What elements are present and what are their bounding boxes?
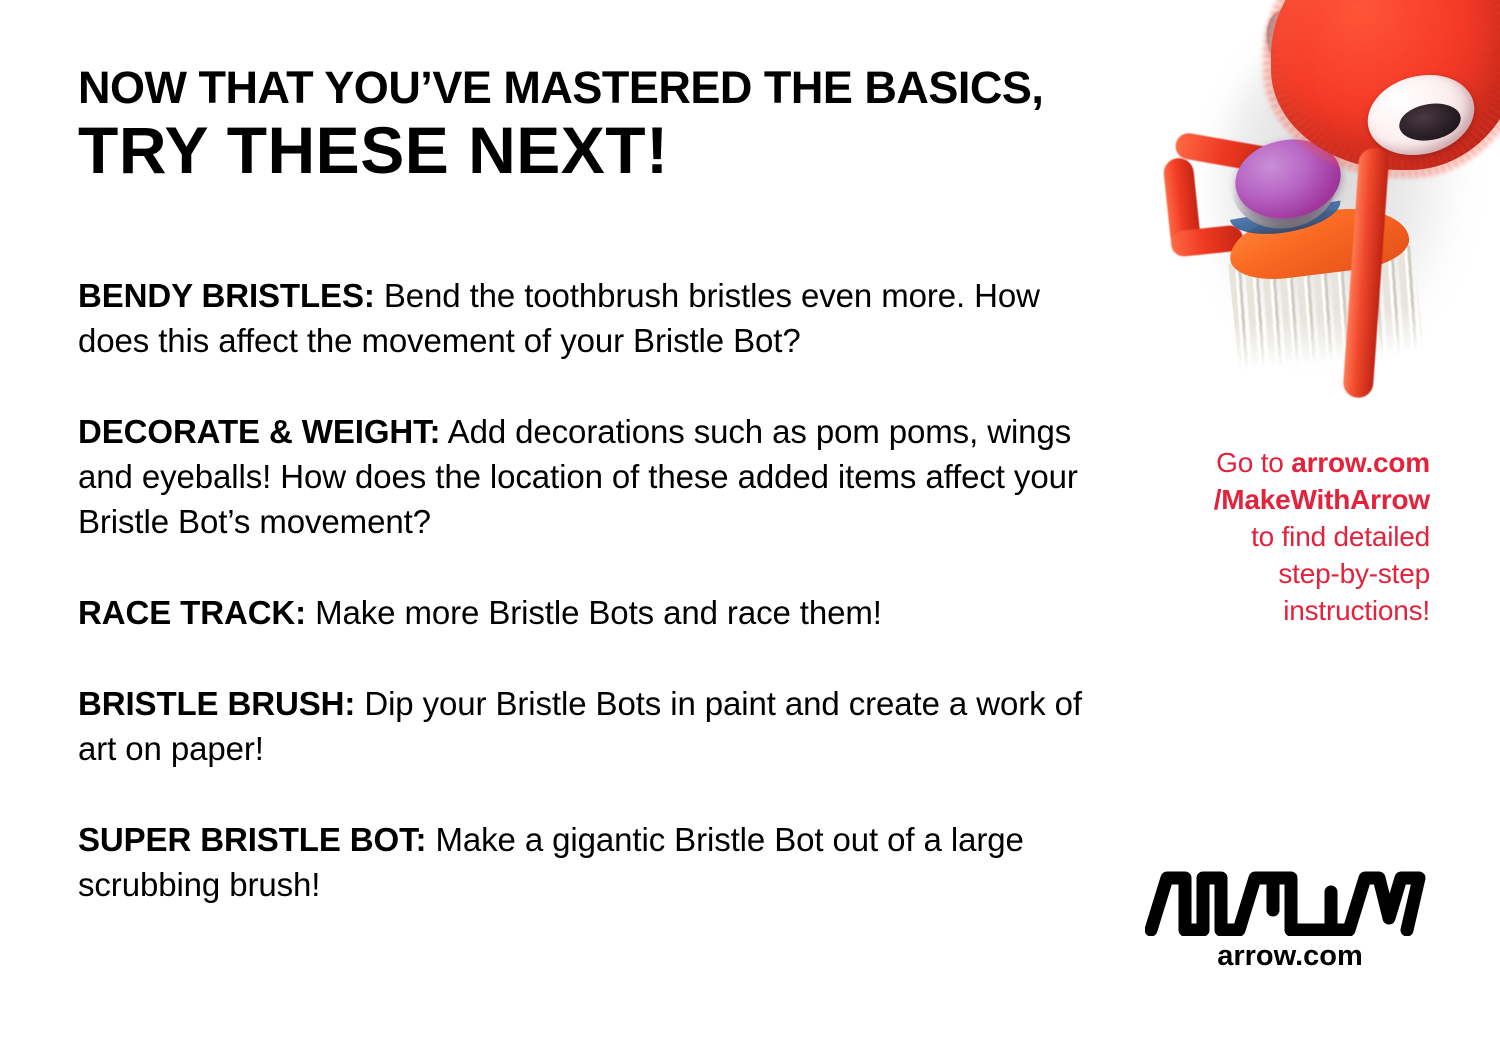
bristle-bot-photo bbox=[1155, 0, 1500, 408]
cta-suffix-line-1: to find detailed bbox=[1251, 521, 1430, 552]
arrow-logo-icon bbox=[1145, 870, 1427, 936]
headline-line-2: TRY THESE NEXT! bbox=[78, 114, 1198, 186]
cta-url-line-1[interactable]: arrow.com bbox=[1291, 447, 1430, 478]
tip-item-super-bristle-bot: SUPER BRISTLE BOT: Make a gigantic Brist… bbox=[78, 817, 1108, 907]
tip-label: BRISTLE BRUSH: bbox=[78, 685, 355, 722]
cta-suffix-line-3: instructions! bbox=[1283, 595, 1430, 626]
tip-item-bristle-brush: BRISTLE BRUSH: Dip your Bristle Bots in … bbox=[78, 681, 1108, 771]
tip-label: SUPER BRISTLE BOT: bbox=[78, 821, 426, 858]
logo-caption: arrow.com bbox=[1145, 940, 1435, 973]
call-to-action-text: Go to arrow.com /MakeWithArrow to find d… bbox=[1130, 444, 1430, 629]
page-title: NOW THAT YOU’VE MASTERED THE BASICS, TRY… bbox=[78, 62, 1198, 186]
tip-item-decorate-and-weight: DECORATE & WEIGHT: Add decorations such … bbox=[78, 409, 1108, 544]
tip-item-race-track: RACE TRACK: Make more Bristle Bots and r… bbox=[78, 590, 1108, 635]
tip-label: BENDY BRISTLES: bbox=[78, 277, 375, 314]
tip-label: DECORATE & WEIGHT: bbox=[78, 413, 440, 450]
poster-canvas: NOW THAT YOU’VE MASTERED THE BASICS, TRY… bbox=[0, 0, 1500, 1050]
logo-block: arrow.com bbox=[1145, 870, 1435, 973]
headline-line-1: NOW THAT YOU’VE MASTERED THE BASICS, bbox=[78, 62, 1198, 114]
googly-eye-pupil bbox=[1396, 99, 1463, 145]
tip-item-bendy-bristles: BENDY BRISTLES: Bend the toothbrush bris… bbox=[78, 273, 1108, 363]
tip-label: RACE TRACK: bbox=[78, 594, 306, 631]
cta-url-line-2[interactable]: /MakeWithArrow bbox=[1214, 484, 1430, 515]
tip-body: Make more Bristle Bots and race them! bbox=[306, 594, 882, 631]
cta-prefix: Go to bbox=[1216, 447, 1291, 478]
cta-suffix-line-2: step-by-step bbox=[1278, 558, 1430, 589]
tips-list: BENDY BRISTLES: Bend the toothbrush bris… bbox=[78, 240, 1108, 907]
